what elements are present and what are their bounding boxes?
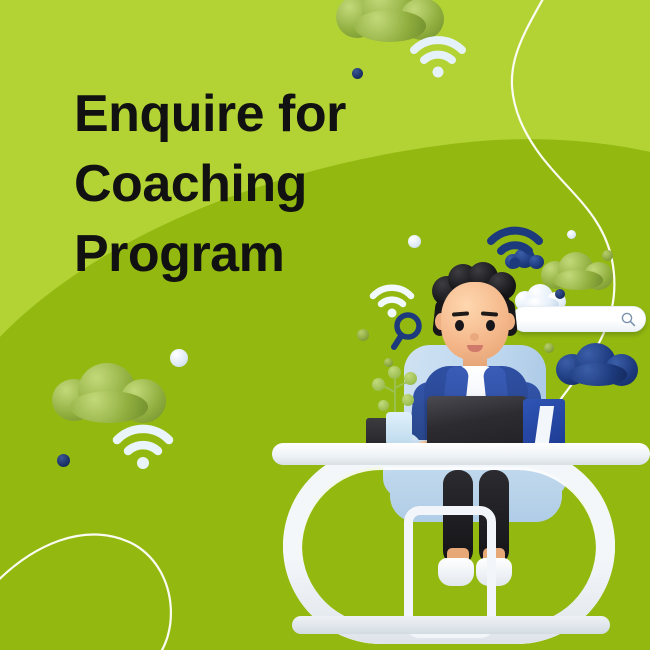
desk-base xyxy=(292,616,610,634)
nose xyxy=(470,333,479,341)
poster-canvas: Enquire for Coaching Program xyxy=(0,0,650,650)
laptop xyxy=(427,396,527,450)
character-illustration xyxy=(0,0,650,650)
eye-right xyxy=(486,320,495,331)
eye-left xyxy=(455,320,464,331)
desk-surface xyxy=(272,443,650,465)
